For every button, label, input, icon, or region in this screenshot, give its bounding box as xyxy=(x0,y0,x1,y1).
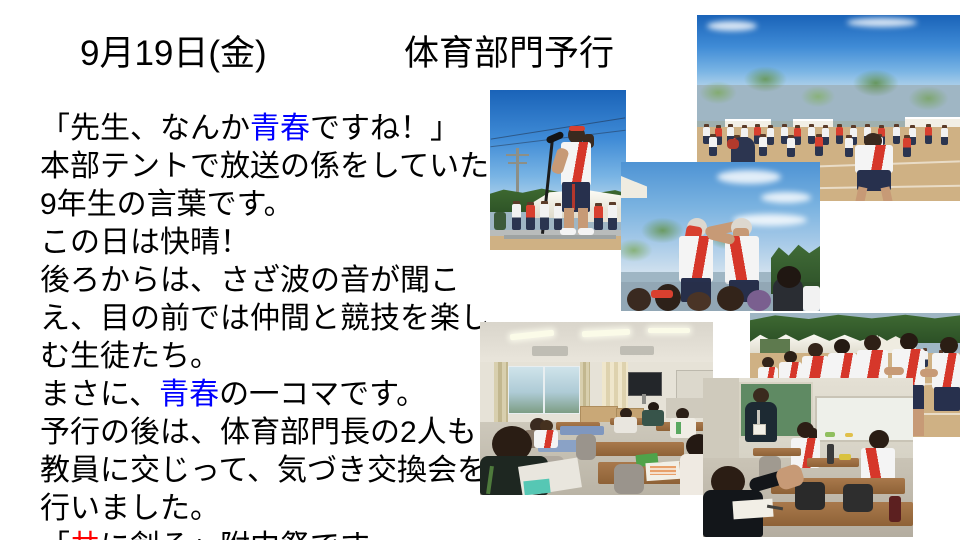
text-segment: 本部テントで放送の係をしていた xyxy=(40,150,489,183)
text-segment: え、目の前では仲間と競技を楽し xyxy=(40,302,490,335)
text-line-2: 本部テントで放送の係をしていた xyxy=(40,148,480,186)
text-line-3: 9年生の言葉です。 xyxy=(40,186,480,224)
body-text-block: 「先生、なんか青春ですね！」 本部テントで放送の係をしていた 9年生の言葉です。… xyxy=(40,110,480,540)
page-title: 体育部門予行 xyxy=(404,32,614,76)
text-segment: 「 xyxy=(40,530,70,540)
text-segment: 教員に交じって、気づき交換会を xyxy=(40,454,487,487)
text-segment-highlight-blue: 青春 xyxy=(250,112,310,145)
text-line-4: この日は快晴！ xyxy=(40,224,480,262)
text-segment: この日は快晴！ xyxy=(40,226,250,259)
text-segment: ですね！」 xyxy=(310,112,460,145)
photo-discussion xyxy=(703,378,913,537)
text-line-10: 教員に交じって、気づき交換会を xyxy=(40,452,480,490)
title-row: 9月19日(金) 体育部門予行 xyxy=(0,32,660,80)
text-line-7: む生徒たち。 xyxy=(40,338,480,376)
slide-canvas: 9月19日(金) 体育部門予行 「先生、なんか青春ですね！」 本部テントで放送の… xyxy=(0,0,960,540)
text-segment: まさに、 xyxy=(40,378,159,411)
text-line-12: 「共に創る」附中祭です。 xyxy=(40,528,480,540)
text-segment: む生徒たち。 xyxy=(40,340,220,373)
text-segment-highlight-blue: 青春 xyxy=(159,378,219,411)
title-date: 9月19日(金) xyxy=(80,32,267,76)
text-line-1: 「先生、なんか青春ですね！」 xyxy=(40,110,480,148)
photo-pyramid xyxy=(621,162,820,311)
text-line-11: 行いました。 xyxy=(40,490,480,528)
text-line-5: 後ろからは、さざ波の音が聞こ xyxy=(40,262,480,300)
photo-announcer xyxy=(490,90,626,250)
text-segment: 「先生、なんか xyxy=(40,112,250,145)
photo-meeting-room xyxy=(480,322,713,495)
text-segment: 行いました。 xyxy=(40,492,220,525)
text-line-6: え、目の前では仲間と競技を楽し xyxy=(40,300,480,338)
text-segment: の一コマです。 xyxy=(219,378,426,411)
text-segment: 9年生の言葉です。 xyxy=(40,188,294,221)
text-segment-highlight-red: 共 xyxy=(70,530,100,540)
text-line-9: 予行の後は、体育部門長の2人も xyxy=(40,414,480,452)
text-segment: 予行の後は、体育部門長の2人も xyxy=(40,416,477,449)
text-segment: 後ろからは、さざ波の音が聞こ xyxy=(40,264,460,297)
text-segment: に創る」附中祭です。 xyxy=(100,530,397,540)
text-line-8: まさに、青春の一コマです。 xyxy=(40,376,480,414)
